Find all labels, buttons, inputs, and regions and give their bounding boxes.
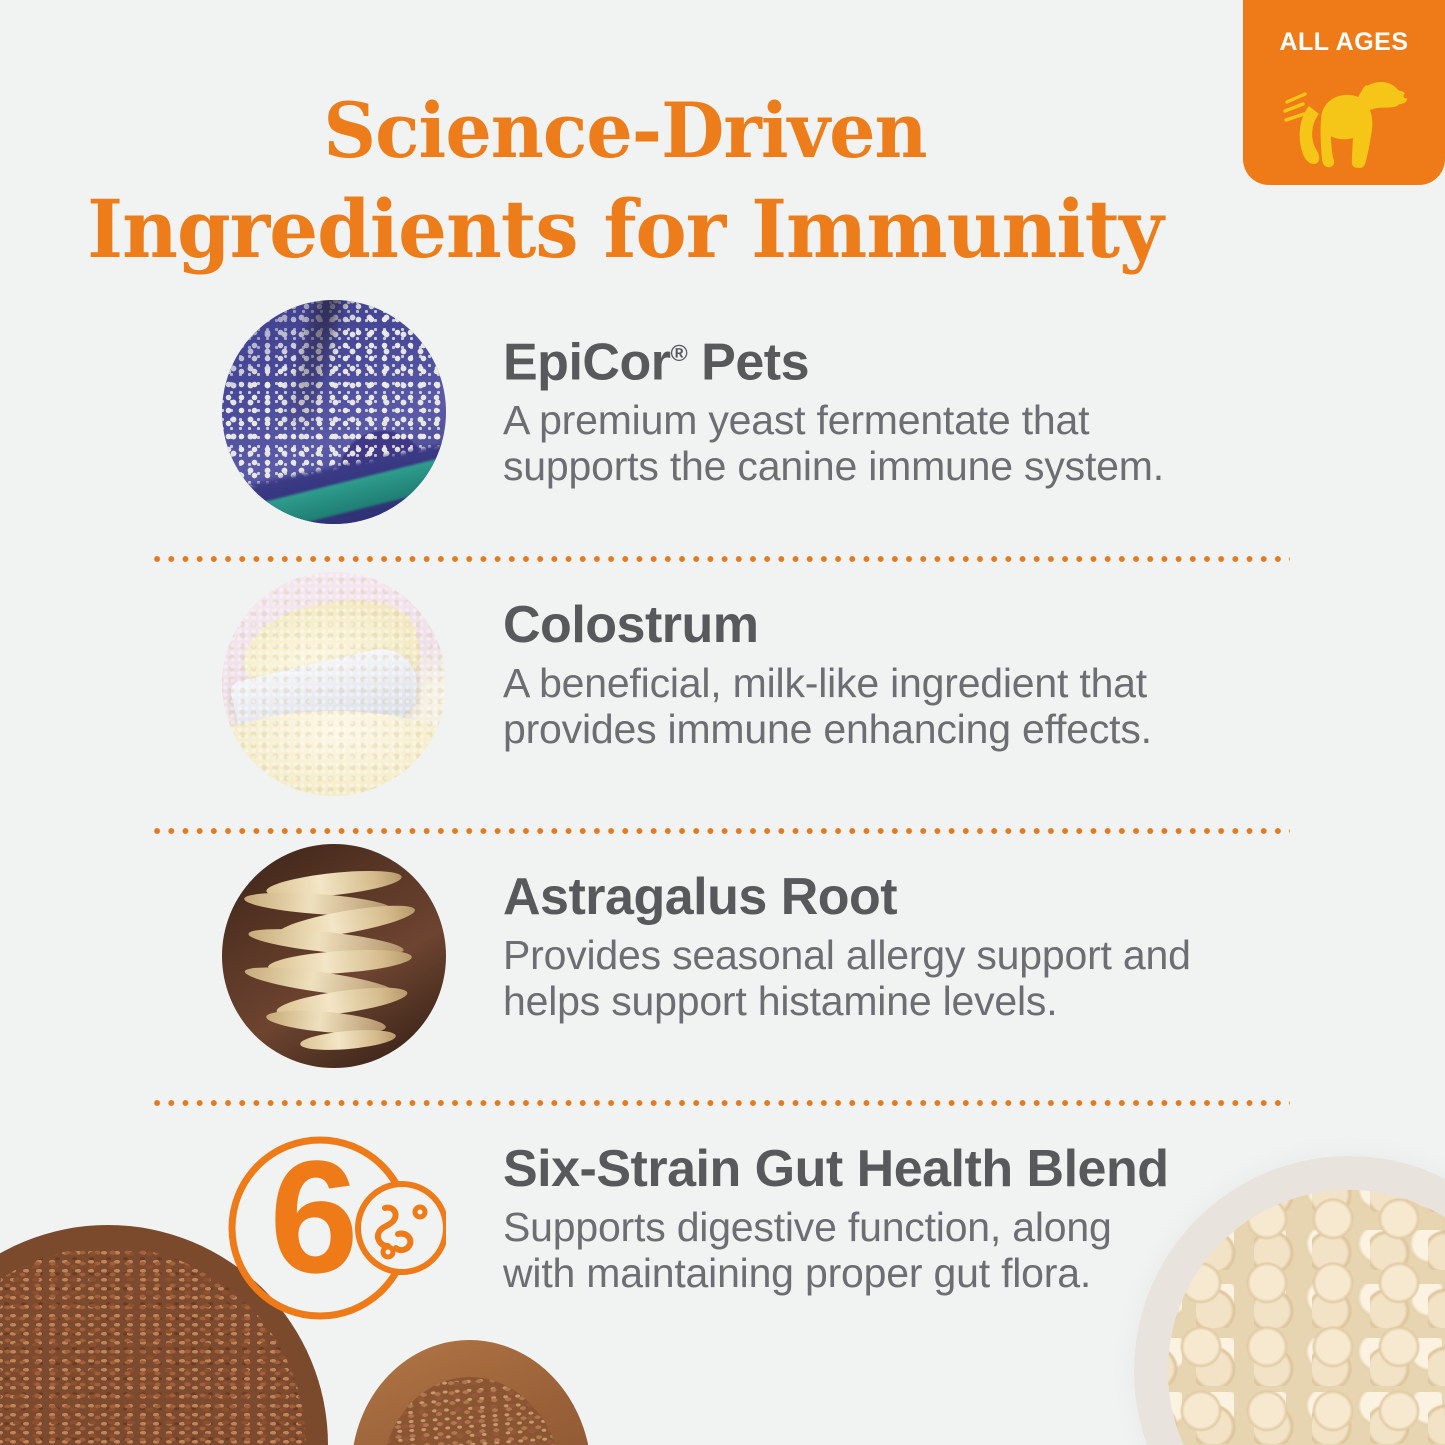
infographic-poster: ALL AGES <box>0 0 1445 1445</box>
page-title-line-2: Ingredients for Immunity <box>25 180 1225 278</box>
ingredient-body-six-strain: Supports digestive function, along with … <box>503 1204 1445 1296</box>
row-divider-3 <box>150 1090 1290 1116</box>
ingredient-heading-colostrum: Colostrum <box>503 596 1445 654</box>
ingredient-body-colostrum: A beneficial, milk-like ingredient that … <box>503 660 1445 752</box>
six-strain-number: 6 <box>270 1127 359 1306</box>
ingredient-text-six-strain: Six-Strain Gut Health Blend Supports dig… <box>446 1116 1445 1296</box>
ingredient-body-astragalus: Provides seasonal allergy support and he… <box>503 932 1445 1024</box>
ingredient-media-epicor <box>222 300 446 524</box>
ingredient-row-astragalus: Astragalus Root Provides seasonal allerg… <box>0 844 1445 1090</box>
petri-dish-image <box>222 300 446 524</box>
ingredient-text-epicor: EpiCor® Pets A premium yeast fermentate … <box>446 300 1445 489</box>
milk-powder-scoop-photo <box>222 572 446 796</box>
ingredient-media-six-strain: 6 <box>222 1116 446 1340</box>
page-title-line-1: Science-Driven <box>25 82 1225 180</box>
row-divider-1 <box>150 546 1290 572</box>
ingredient-row-epicor: EpiCor® Pets A premium yeast fermentate … <box>0 300 1445 546</box>
all-ages-badge-label: ALL AGES <box>1243 30 1445 55</box>
ingredient-body-epicor: A premium yeast fermentate that supports… <box>503 397 1445 489</box>
petri-dish-photo <box>222 300 446 524</box>
flax-spoon-seeds-texture <box>374 1371 569 1445</box>
ingredient-media-colostrum <box>222 572 446 796</box>
milk-powder-image <box>222 572 446 796</box>
root-slices <box>222 844 446 1068</box>
ingredient-heading-main: EpiCor <box>503 333 670 391</box>
ingredient-row-colostrum: Colostrum A beneficial, milk-like ingred… <box>0 572 1445 818</box>
astragalus-root-image <box>222 844 446 1068</box>
registered-trademark-mark: ® <box>670 340 687 366</box>
ingredient-row-six-strain: 6 Six-Strain Gut Health Blend Supports d… <box>0 1116 1445 1362</box>
ingredient-list: EpiCor® Pets A premium yeast fermentate … <box>0 300 1445 1362</box>
six-strain-probiotic-icon: 6 <box>222 1116 446 1340</box>
all-ages-badge: ALL AGES <box>1243 0 1445 185</box>
page-title: Science-Driven Ingredients for Immunity <box>25 82 1225 278</box>
ingredient-text-colostrum: Colostrum A beneficial, milk-like ingred… <box>446 572 1445 752</box>
ingredient-heading-six-strain: Six-Strain Gut Health Blend <box>503 1140 1445 1198</box>
ingredient-heading-epicor: EpiCor® Pets <box>503 324 1445 391</box>
ingredient-heading-suffix: Pets <box>687 333 809 391</box>
sitting-dog-icon <box>1279 62 1409 177</box>
powder-grain-texture <box>222 572 446 796</box>
row-divider-2 <box>150 818 1290 844</box>
ingredient-heading-astragalus: Astragalus Root <box>503 868 1445 926</box>
ingredient-media-astragalus <box>222 844 446 1068</box>
ingredient-text-astragalus: Astragalus Root Provides seasonal allerg… <box>446 844 1445 1024</box>
astragalus-root-photo <box>222 844 446 1068</box>
